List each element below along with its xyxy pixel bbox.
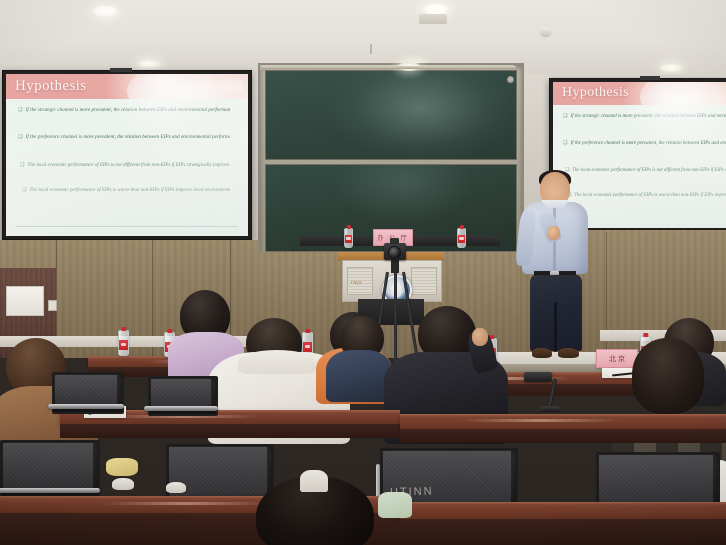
ceiling-light-left <box>92 6 118 17</box>
desk-row-front-right <box>400 502 726 520</box>
lectern-brand-text: rays <box>351 280 362 286</box>
chair-front-left[interactable] <box>0 440 96 496</box>
student-curly-head <box>632 338 704 414</box>
right-bullet-1-text: If the strategic channel is more prevale… <box>570 114 726 119</box>
student-navy-torso <box>326 350 392 402</box>
lectern-vent-right <box>411 267 437 295</box>
chair-back-left[interactable] <box>52 372 120 410</box>
bullet-marker: ❑ <box>22 188 26 193</box>
bottle-cap <box>346 225 350 229</box>
presenter-trouser-seam <box>554 302 557 352</box>
right-slide-bullet-2: ❑If the preference channel is more preva… <box>563 140 726 147</box>
chalkboard-upper-panel <box>265 70 517 160</box>
bullet-marker: ❑ <box>563 141 567 146</box>
ceiling-light-row-a <box>138 60 160 68</box>
lecture-hall-photo: Hypothesis 人文教学部 ❑If the strategic chann… <box>0 0 726 545</box>
chair-frame-bar <box>0 488 100 493</box>
student-foreground-collar <box>300 470 328 492</box>
left-projection-screen: Hypothesis 人文教学部 ❑If the strategic chann… <box>2 70 252 240</box>
tripod-head <box>391 259 399 273</box>
desk-row-front-right-front <box>400 519 726 545</box>
bottle-label <box>303 342 312 352</box>
bottle-stage-left <box>344 228 353 248</box>
bullet-marker: ❑ <box>20 163 24 168</box>
chair-frame-bar <box>48 404 124 409</box>
bag-on-floor <box>378 492 412 518</box>
student-hoodie-hood <box>238 350 316 374</box>
chair-back-center[interactable] <box>148 376 214 412</box>
bag-yellow-floor <box>106 458 138 476</box>
bullet-marker: ❑ <box>18 134 23 140</box>
chair-mesh <box>55 375 117 407</box>
left-bullet-3-text: The local economic performance of EIPs i… <box>27 163 230 168</box>
left-slide: Hypothesis 人文教学部 ❑If the strategic chann… <box>6 74 248 236</box>
left-bullet-1-text: If the strategic channel is more prevale… <box>26 107 230 113</box>
bullet-marker: ❑ <box>18 107 23 113</box>
camera-lens-icon <box>388 246 401 259</box>
chalkboard-corner-fixture <box>507 76 514 83</box>
desk-row-middle-front <box>60 424 400 438</box>
left-slide-bullet-1-line1: ❑If the strategic channel is more preval… <box>18 107 230 114</box>
chair-mesh <box>3 443 93 493</box>
left-bullet-4-text: The local economic performance of EIPs i… <box>29 188 230 193</box>
presenter-shoe-right <box>558 348 579 358</box>
bottle-cap <box>643 333 648 337</box>
desk-reflection <box>460 419 620 422</box>
desk-edge <box>400 414 726 417</box>
presenter <box>516 172 600 364</box>
bottle-label <box>458 235 465 243</box>
desk-row-middle-right <box>400 414 726 430</box>
desk-nameplate: 北 京 <box>596 349 638 368</box>
right-slide-title-bar: Hypothesis <box>553 82 726 105</box>
left-slide-bullet-2-line1: ❑If the preference channel is more preva… <box>18 134 230 141</box>
bottle-back-1 <box>118 330 129 356</box>
desk-microphone-base <box>540 406 560 412</box>
right-screen-top-sensor <box>640 76 660 80</box>
desk-nameplate-text: 北 京 <box>609 354 625 364</box>
desk-edge <box>400 502 726 505</box>
left-slide-title-bar: Hypothesis 人文教学部 <box>6 74 248 99</box>
smartphone-on-desk <box>524 372 552 382</box>
bottle-cap <box>167 329 172 333</box>
left-slide-logo: 人文教学部 <box>166 82 196 91</box>
presenter-hand <box>547 226 560 240</box>
chalkboard-top-trim <box>262 66 516 69</box>
camera-viewfinder <box>390 238 399 244</box>
ceiling-vent <box>419 14 447 24</box>
student-black-hand <box>472 328 488 346</box>
left-slide-bullet-4-line1: ❑The local economic performance of EIPs … <box>22 187 230 194</box>
bottle-cap <box>121 327 126 331</box>
chair-front-center[interactable] <box>166 444 270 504</box>
desk-reflection <box>100 502 270 505</box>
chair-frame-bar <box>144 406 218 411</box>
shoe-under-desk-2 <box>166 482 186 493</box>
left-screen-top-sensor <box>110 68 132 72</box>
ceiling-seam <box>370 44 372 54</box>
right-bullet-2-text: If the preference channel is more preval… <box>570 141 726 146</box>
right-slide-title: Hypothesis <box>562 85 629 101</box>
smoke-detector-icon <box>540 27 551 36</box>
left-bullet-2-text: If the preference channel is more preval… <box>26 134 230 140</box>
left-slide-footer-line <box>16 226 239 227</box>
left-slide-bullet-3-line1: ❑The local economic performance of EIPs … <box>20 162 230 169</box>
bottle-cap <box>459 225 463 229</box>
desk-row-middle-right-front <box>400 429 726 443</box>
ceiling-light-row-c <box>660 64 682 72</box>
wall-switch <box>48 300 57 311</box>
chair-mesh <box>169 447 267 501</box>
chair-mesh <box>151 379 211 409</box>
bottle-label <box>345 235 352 243</box>
presenter-shoe-left <box>532 348 552 358</box>
bottle-label <box>119 340 128 350</box>
left-slide-logo-tag <box>198 81 242 92</box>
right-slide-bullet-1: ❑If the strategic channel is more preval… <box>563 113 726 120</box>
bottle-cap <box>305 329 310 333</box>
bullet-marker: ❑ <box>563 114 567 119</box>
wall-placard <box>6 286 44 316</box>
bottle-stage-right <box>457 228 466 248</box>
left-slide-title: Hypothesis <box>15 78 87 95</box>
shoe-under-desk <box>112 478 134 490</box>
